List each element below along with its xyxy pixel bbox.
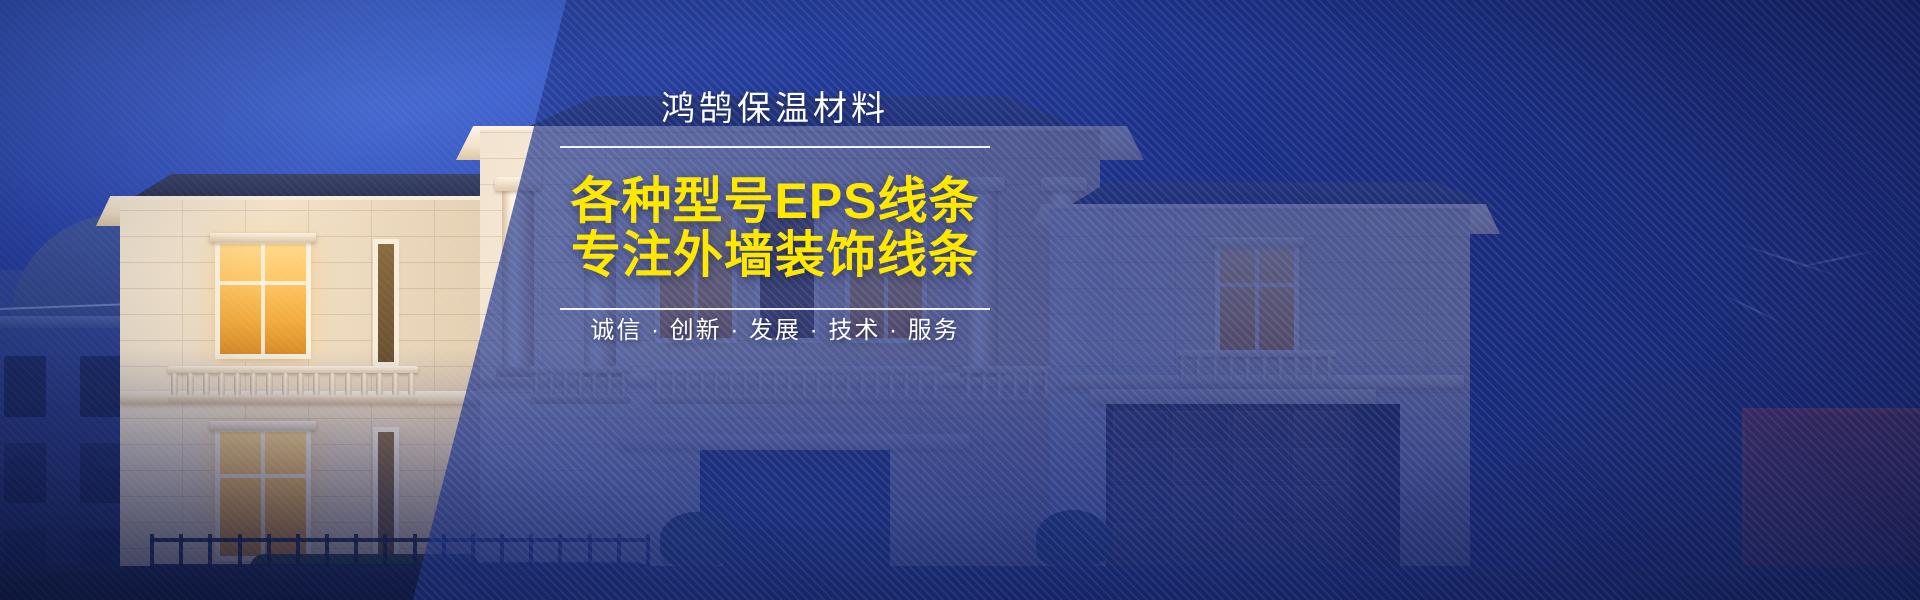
headline-line-2: 专注外墙装饰线条 — [555, 228, 995, 282]
window-dark — [378, 244, 394, 362]
divider-top — [560, 146, 990, 148]
promotional-banner: 鸿鹄保温材料 各种型号EPS线条 专注外墙装饰线条 诚信 · 创新 · 发展 ·… — [0, 0, 1920, 600]
banner-text-block: 鸿鹄保温材料 各种型号EPS线条 专注外墙装饰线条 诚信 · 创新 · 发展 ·… — [555, 92, 995, 345]
window-mullion-vertical — [261, 244, 265, 354]
window-mullion-horizontal — [220, 281, 306, 285]
window-lit — [220, 244, 306, 354]
headline-line-1: 各种型号EPS线条 — [555, 174, 995, 228]
window-hood — [210, 233, 316, 242]
tagline: 诚信 · 创新 · 发展 · 技术 · 服务 — [555, 310, 995, 345]
headline: 各种型号EPS线条 专注外墙装饰线条 — [555, 174, 995, 282]
brand-name: 鸿鹄保温材料 — [555, 92, 995, 126]
